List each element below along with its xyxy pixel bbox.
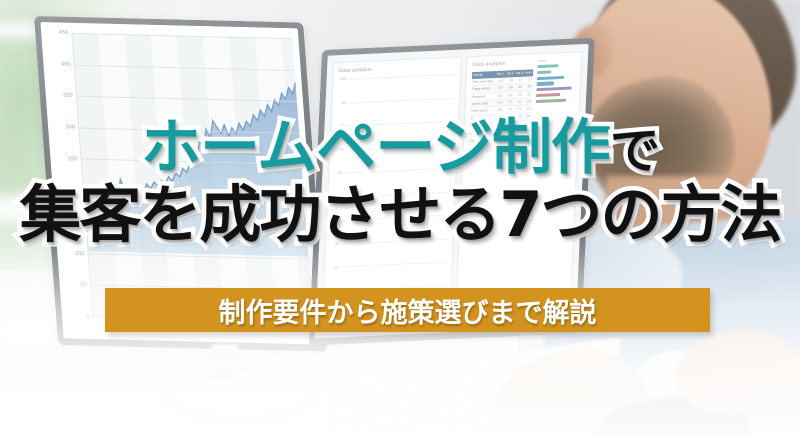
table-body: Site overview182944127Page views16488382… xyxy=(468,76,533,159)
area-chart-ytick: 100 xyxy=(75,251,85,257)
keyboard-key xyxy=(357,391,376,406)
keyboard-key xyxy=(457,377,476,392)
area-chart-ytick: 0 xyxy=(86,314,90,320)
keyboard-key xyxy=(455,405,474,420)
area-chart-ytick: 450 xyxy=(58,30,68,36)
keyboard-key xyxy=(478,360,497,375)
keyboard-key xyxy=(437,380,456,395)
subtitle-bar: 制作要件から施策選びまで解説 xyxy=(105,288,710,332)
table-cell: 12 xyxy=(520,149,530,157)
keyboard-key xyxy=(335,422,354,435)
dashboard-mini-panel: Score xyxy=(526,57,576,316)
keyboard-key xyxy=(375,417,394,432)
bar-chart-ytick: 30 xyxy=(335,242,339,246)
keyboard-key xyxy=(394,428,413,435)
mini-panel-bar xyxy=(536,87,571,92)
area-chart-ytick: 50 xyxy=(80,282,87,288)
subtitle-text: 制作要件から施策選びまで解説 xyxy=(219,291,597,330)
keyboard-key xyxy=(475,402,494,417)
dashboard-table-card: Data analysis ActivityVal 1Val 2Val 3Val… xyxy=(455,51,583,325)
keyboard-key xyxy=(397,385,416,400)
mini-panel-bar xyxy=(537,64,558,68)
keyboard-key xyxy=(417,382,436,397)
keyboard-key xyxy=(476,388,495,403)
bar-chart-ytick: 100 xyxy=(341,77,347,81)
table-wrapper: Data analysis ActivityVal 1Val 2Val 3Val… xyxy=(461,59,534,320)
keyboard-key xyxy=(415,411,434,426)
keyboard-key xyxy=(396,399,415,414)
keyboard-key xyxy=(374,431,393,435)
table-card-title: Data analysis xyxy=(472,59,533,68)
keyboard-key xyxy=(355,419,374,434)
area-chart-ytick: 400 xyxy=(61,61,71,67)
bar-chart-ytick: 80 xyxy=(340,124,344,128)
keyboard-key xyxy=(434,422,453,435)
keyboard-key xyxy=(377,388,396,403)
keyboard-key xyxy=(338,379,357,394)
keyboard-key xyxy=(418,368,437,383)
keyboard-key xyxy=(477,374,496,389)
mini-panel-title: Score xyxy=(538,57,576,63)
bar-chart-ytick: 20 xyxy=(334,265,338,269)
keyboard-key xyxy=(358,376,377,391)
bar-chart-ytick: 40 xyxy=(336,218,340,222)
bar-chart-ytick: 70 xyxy=(339,148,343,152)
area-chart-ytick: 250 xyxy=(68,156,78,162)
keyboard-key xyxy=(474,417,493,432)
bar-chart-ytick: 60 xyxy=(338,171,342,175)
area-chart-plot: 050100150200250300350400450 xyxy=(71,33,313,323)
keyboard-key xyxy=(395,414,414,429)
mini-panel-rows xyxy=(536,63,576,103)
keyboard-key xyxy=(337,394,356,409)
banner-image: 050100150200250300350400450 Data analysi… xyxy=(0,0,800,435)
keyboard-key xyxy=(376,402,395,417)
bar-chart-bars xyxy=(339,74,455,314)
table-cell: 47 xyxy=(501,150,511,158)
table-cell: 88 xyxy=(492,151,502,159)
mini-panel-bar xyxy=(536,93,561,97)
table-cell: Revenue xyxy=(468,151,492,159)
keyboard-key xyxy=(356,405,375,420)
keyboard-key xyxy=(435,408,454,423)
mini-panel-bar xyxy=(537,82,555,86)
table-cell: 20 xyxy=(511,150,521,158)
keyboard-key xyxy=(454,420,473,435)
mini-panel-bar xyxy=(537,75,564,79)
table-row: Revenue88472012 xyxy=(468,149,530,159)
area-chart-ytick: 300 xyxy=(65,124,75,130)
bar-chart-plot: 1009080706050403020100 xyxy=(339,74,455,314)
keyboard-key xyxy=(336,408,355,423)
area-chart-ytick: 200 xyxy=(70,187,80,193)
keyboard-key xyxy=(416,397,435,412)
data-table: ActivityVal 1Val 2Val 3Val 4 Site overvi… xyxy=(468,69,533,160)
keyboard-key xyxy=(436,394,455,409)
keyboard-key xyxy=(456,391,475,406)
monitor-stand-base xyxy=(160,362,320,424)
bar-card-title: Data analysis xyxy=(339,63,456,74)
keyboard-key xyxy=(414,425,433,435)
mini-panel-bar xyxy=(537,70,552,74)
bar-chart-ytick: 50 xyxy=(337,195,341,199)
keyboard-key xyxy=(438,365,457,380)
keyboard-key xyxy=(398,371,417,386)
area-chart-ytick: 350 xyxy=(63,93,73,99)
keyboard-key xyxy=(458,362,477,377)
keyboard-key xyxy=(378,374,397,389)
area-chart-ytick: 150 xyxy=(72,219,82,225)
keyboard-key xyxy=(498,357,517,372)
mini-panel-bar xyxy=(536,98,567,103)
bar-chart-ytick: 90 xyxy=(342,100,346,104)
